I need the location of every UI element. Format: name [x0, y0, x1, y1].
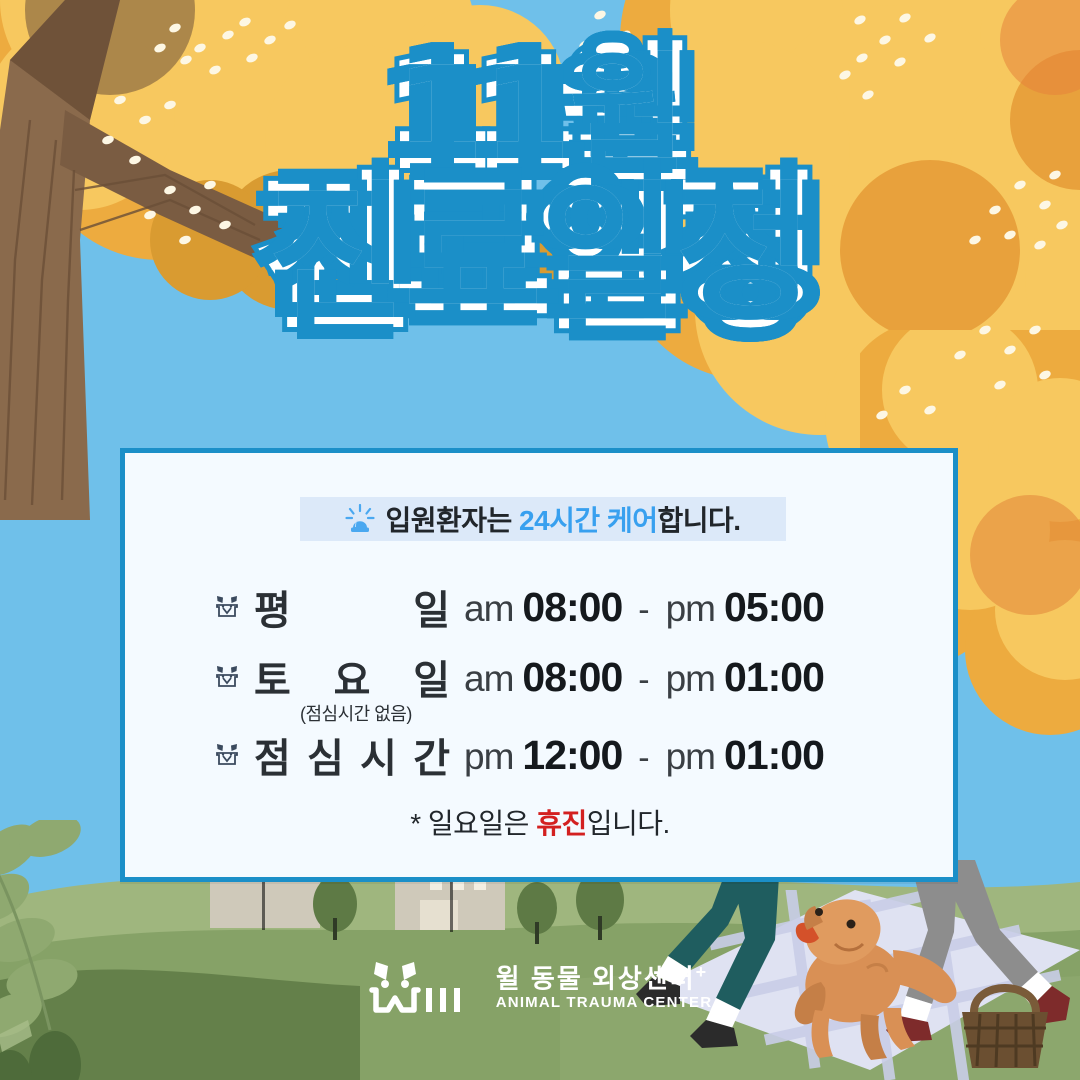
- row-label-char: 평: [254, 578, 291, 636]
- title-line1: 11월: [0, 52, 1080, 177]
- no-lunch-note: (점심시간 없음): [300, 700, 412, 726]
- schedule-row-saturday: 토 요 일 am 08:00 - pm 01:00: [214, 648, 824, 706]
- row-times-weekday: am 08:00 - pm 05:00: [464, 584, 824, 631]
- row-label-char: 요: [334, 648, 371, 706]
- row-label-char: 토: [254, 648, 291, 706]
- logo-name-en: ANIMAL TRAUMA CENTER: [496, 994, 713, 1011]
- title-line2: 진료일정: [0, 182, 1080, 329]
- row-label-char: 일: [413, 648, 450, 706]
- logo-plus-icon: +: [696, 962, 709, 982]
- start-meridiem: am: [464, 658, 513, 700]
- start-time: 08:00: [522, 654, 622, 701]
- row-label-lunch: 점 심 시 간: [254, 726, 450, 784]
- paw-icon: [214, 664, 240, 690]
- row-label-weekday: 평 일: [254, 578, 450, 636]
- row-label-char: 시: [360, 726, 397, 784]
- footnote-prefix: * 일요일은: [410, 808, 536, 839]
- footnote-suffix: 입니다.: [587, 808, 670, 839]
- clinic-logo: 윌 동물 외상센터+ ANIMAL TRAUMA CENTER: [0, 958, 1080, 1016]
- footnote-highlight: 휴진: [536, 808, 587, 839]
- start-time: 12:00: [522, 732, 622, 779]
- time-separator: -: [638, 661, 649, 700]
- end-time: 01:00: [724, 654, 824, 701]
- row-label-char: 심: [307, 726, 344, 784]
- row-times-lunch: pm 12:00 - pm 01:00: [464, 732, 824, 779]
- banner-text-suffix: 합니다.: [658, 505, 741, 536]
- time-separator: -: [638, 739, 649, 778]
- row-label-saturday: 토 요 일: [254, 648, 450, 706]
- poster-title: 11월 11월 11월 진료일정 진료일정 진료일정: [0, 52, 1080, 342]
- closed-sunday-footnote: * 일요일은 휴진입니다.: [0, 802, 1080, 842]
- row-label-char: 점: [254, 726, 291, 784]
- logo-name-kr-wrap: 윌 동물 외상센터+: [496, 963, 713, 993]
- logo-name-kr: 윌 동물 외상센터: [496, 964, 696, 994]
- banner-text: 입원환자는 24시간 케어합니다.: [385, 499, 740, 539]
- time-separator: -: [638, 591, 649, 630]
- paw-icon: [214, 594, 240, 620]
- end-meridiem: pm: [666, 658, 715, 700]
- start-meridiem: am: [464, 588, 513, 630]
- row-label-char: 간: [413, 726, 450, 784]
- row-times-saturday: am 08:00 - pm 01:00: [464, 654, 824, 701]
- siren-icon: [345, 504, 375, 534]
- banner-highlight: 24시간 케어: [519, 505, 657, 536]
- paw-icon: [214, 742, 240, 768]
- end-time: 01:00: [724, 732, 824, 779]
- row-label-char: 일: [413, 578, 450, 636]
- schedule-row-lunch: 점 심 시 간 pm 12:00 - pm 01:00: [214, 726, 824, 784]
- schedule-row-weekday: 평 일 am 08:00 - pm 05:00: [214, 578, 824, 636]
- will-cat-logo-icon: [368, 958, 480, 1016]
- start-meridiem: pm: [464, 736, 513, 778]
- inpatient-care-banner: 입원환자는 24시간 케어합니다.: [300, 497, 786, 541]
- end-time: 05:00: [724, 584, 824, 631]
- logo-text-block: 윌 동물 외상센터+ ANIMAL TRAUMA CENTER: [496, 963, 713, 1010]
- end-meridiem: pm: [666, 736, 715, 778]
- poster-root: 11월 11월 11월 진료일정 진료일정 진료일정: [0, 0, 1080, 1080]
- end-meridiem: pm: [666, 588, 715, 630]
- start-time: 08:00: [522, 584, 622, 631]
- banner-text-prefix: 입원환자는: [385, 505, 519, 536]
